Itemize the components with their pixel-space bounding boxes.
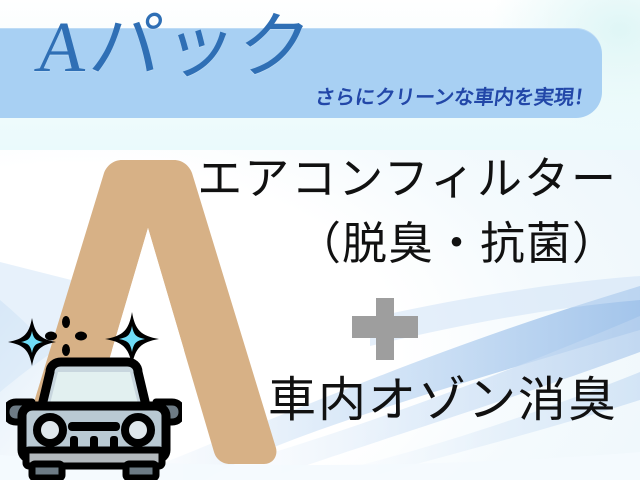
car-body-group <box>6 362 182 478</box>
service-line-deodorize-antibacterial: （脱臭・抗菌） <box>0 216 618 272</box>
plus-icon <box>352 298 418 360</box>
banner-subtitle: さらにクリーンな車内を実現！ <box>314 86 596 110</box>
sparkle-star-icon <box>8 318 56 366</box>
service-line-air-conditioner-filter: エアコンフィルター <box>0 152 618 206</box>
poster-canvas: Aパック さらにクリーンな車内を実現！ エアコンフィルター （脱臭・抗菌） 車内… <box>0 0 640 480</box>
car-front-icon <box>6 310 182 480</box>
banner-title: Aパック <box>31 4 316 90</box>
sparkle-dots-icon <box>45 316 87 356</box>
